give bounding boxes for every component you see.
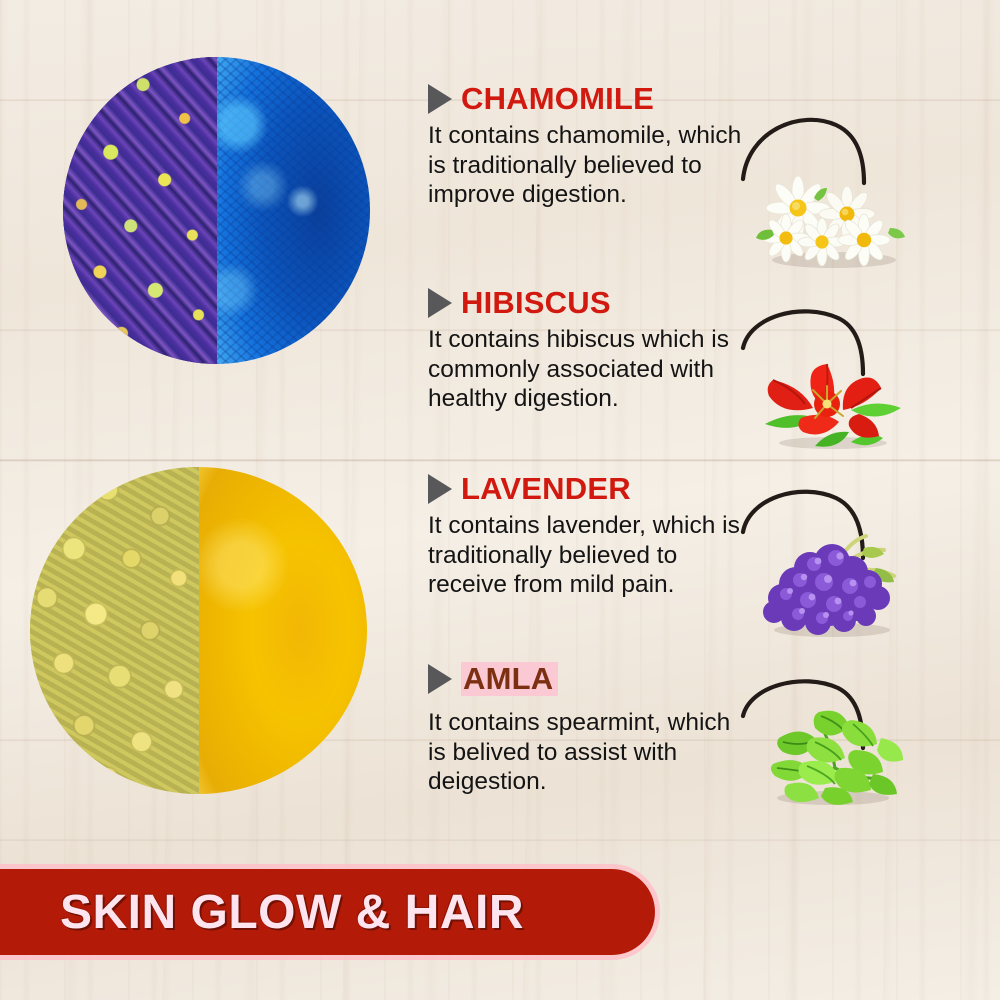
entry-heading: CHAMOMILE (428, 83, 748, 114)
ingredient-title: LAVENDER (461, 473, 631, 504)
ingredient-entry-amla[interactable]: AMLA It contains spearmint, which is bel… (428, 662, 748, 797)
ingredient-description: It contains lavender, which is tradition… (428, 511, 748, 600)
dried-buds-half (30, 467, 199, 794)
entry-heading: AMLA (428, 662, 748, 696)
ingredient-description: It contains hibiscus which is commonly a… (428, 325, 748, 414)
entry-heading: LAVENDER (428, 473, 748, 504)
mint-leaves-icon (755, 698, 915, 808)
product-image-chamomile (30, 467, 367, 794)
triangle-right-icon (428, 84, 452, 114)
bottom-banner[interactable]: SKIN GLOW & HAIR (0, 869, 655, 955)
infographic-poster: CHAMOMILE It contains chamomile, which i… (0, 0, 1000, 1000)
blue-tea-half (217, 57, 371, 364)
ingredient-entry-hibiscus[interactable]: HIBISCUS It contains hibiscus which is c… (428, 287, 748, 414)
hibiscus-flower-icon (755, 358, 910, 450)
dried-petals-half (63, 57, 217, 364)
ingredient-title: CHAMOMILE (461, 83, 654, 114)
ingredient-description: It contains spearmint, which is belived … (428, 708, 748, 797)
ingredient-description: It contains chamomile, which is traditio… (428, 121, 748, 210)
banner-title: SKIN GLOW & HAIR (60, 885, 524, 940)
ingredient-title: AMLA (461, 662, 558, 696)
triangle-right-icon (428, 664, 452, 694)
ingredient-entry-lavender[interactable]: LAVENDER It contains lavender, which is … (428, 473, 748, 600)
ingredient-entry-chamomile[interactable]: CHAMOMILE It contains chamomile, which i… (428, 83, 748, 210)
triangle-right-icon (428, 474, 452, 504)
product-image-butterfly-pea (63, 57, 370, 364)
chamomile-flowers-icon (752, 168, 912, 268)
golden-tea-half (199, 467, 368, 794)
triangle-right-icon (428, 288, 452, 318)
ingredient-title: HIBISCUS (461, 287, 611, 318)
entry-heading: HIBISCUS (428, 287, 748, 318)
lavender-sprig-icon (752, 528, 917, 638)
